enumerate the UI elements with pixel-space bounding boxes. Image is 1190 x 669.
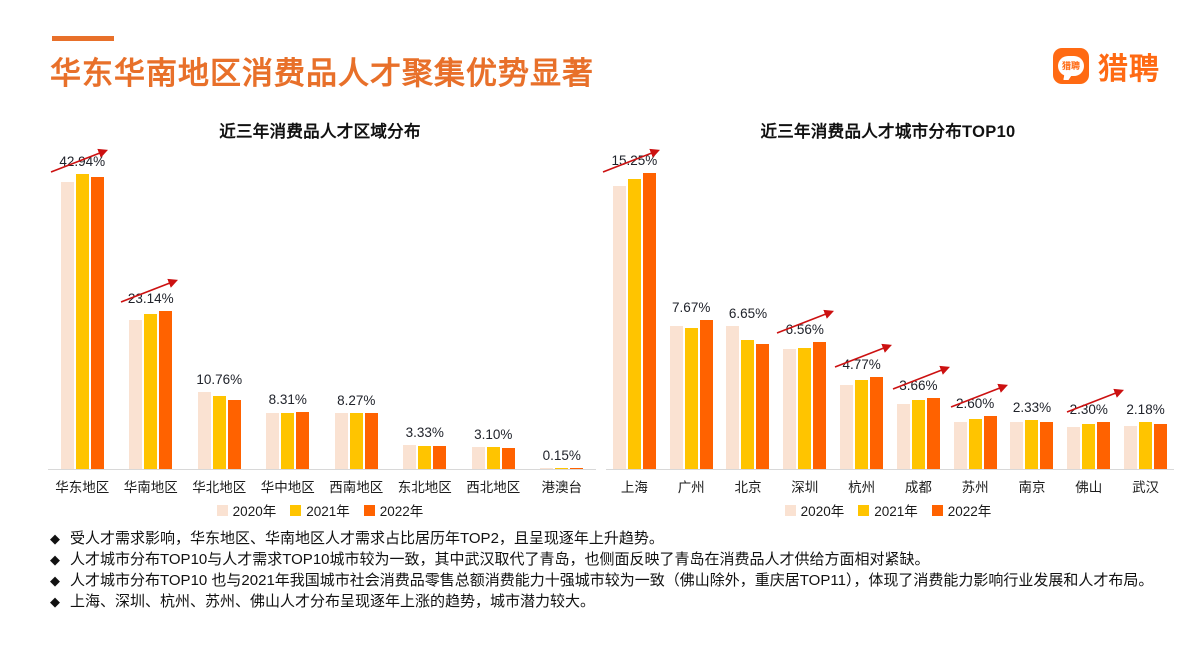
- insight-item: ◆人才城市分布TOP10与人才需求TOP10城市较为一致，其中武汉取代了青岛，也…: [50, 549, 1170, 570]
- bar-value-label: 3.66%: [899, 378, 937, 393]
- bar-2021: [350, 413, 363, 470]
- bar-2022: [927, 398, 940, 469]
- legend-swatch: [290, 505, 301, 516]
- x-axis-label: 武汉: [1117, 476, 1174, 496]
- bar-2021: [281, 413, 294, 470]
- chart-region-distribution: 近三年消费品人才区域分布 42.94%23.14%10.76%8.31%8.27…: [40, 118, 600, 520]
- bar-2022: [1154, 424, 1167, 469]
- x-axis-label: 广州: [663, 476, 720, 496]
- bar-triplet: [954, 150, 997, 469]
- x-axis-label: 成都: [890, 476, 947, 496]
- bar-2021: [76, 174, 89, 469]
- bar-triplet: [783, 150, 826, 469]
- bar-2020: [403, 445, 416, 470]
- chart-city-distribution: 近三年消费品人才城市分布TOP10 15.25%7.67%6.65%6.56%4…: [598, 118, 1178, 520]
- bar-group: 6.56%: [776, 150, 833, 469]
- legend-item[interactable]: 2022年: [364, 500, 424, 520]
- insight-text: 受人才需求影响，华东地区、华南地区人才需求占比居历年TOP2，且呈现逐年上升趋势…: [70, 528, 1170, 549]
- bar-2022: [700, 320, 713, 469]
- bar-group: 8.27%: [322, 150, 391, 469]
- bar-group: 3.33%: [391, 150, 460, 469]
- bar-2020: [129, 320, 142, 469]
- bar-value-label: 7.67%: [672, 300, 710, 315]
- bar-2020: [897, 404, 910, 469]
- bullet-diamond-icon: ◆: [50, 570, 60, 591]
- x-axis-label: 东北地区: [391, 476, 460, 496]
- bar-group: 23.14%: [117, 150, 186, 469]
- bar-2021: [418, 446, 431, 469]
- x-axis-label: 华中地区: [254, 476, 323, 496]
- bar-2022: [1040, 422, 1053, 470]
- x-axis-labels-right: 上海广州北京深圳杭州成都苏州南京佛山武汉: [606, 476, 1174, 496]
- legend-label: 2021年: [874, 500, 918, 520]
- legend-item[interactable]: 2020年: [785, 500, 845, 520]
- bar-group: 15.25%: [606, 150, 663, 469]
- bar-groups-left: 42.94%23.14%10.76%8.31%8.27%3.33%3.10%0.…: [48, 150, 596, 469]
- bar-value-label: 3.10%: [474, 427, 512, 442]
- bar-2020: [335, 413, 348, 469]
- x-axis-label: 南京: [1004, 476, 1061, 496]
- bar-triplet: [1067, 150, 1110, 469]
- bullet-diamond-icon: ◆: [50, 591, 60, 612]
- bar-2022: [1097, 422, 1110, 470]
- bar-value-label: 4.77%: [842, 357, 880, 372]
- bar-2020: [840, 385, 853, 469]
- bar-2021: [1139, 422, 1152, 469]
- x-axis-labels-left: 华东地区华南地区华北地区华中地区西南地区东北地区西北地区港澳台: [48, 476, 596, 496]
- bar-2022: [228, 400, 241, 469]
- title-accent-bar: [52, 36, 114, 41]
- x-axis-label: 华北地区: [185, 476, 254, 496]
- legend-label: 2022年: [380, 500, 424, 520]
- bar-triplet: [897, 150, 940, 469]
- bar-value-label: 10.76%: [196, 372, 242, 387]
- bar-group: 6.65%: [720, 150, 777, 469]
- bar-group: 2.60%: [947, 150, 1004, 469]
- plot-area-right: 15.25%7.67%6.65%6.56%4.77%3.66%2.60%2.33…: [598, 150, 1178, 470]
- bar-group: 42.94%: [48, 150, 117, 469]
- bar-value-label: 42.94%: [59, 154, 105, 169]
- bar-2022: [159, 311, 172, 469]
- insight-text: 人才城市分布TOP10 也与2021年我国城市社会消费品零售总额消费能力十强城市…: [70, 570, 1170, 591]
- bar-triplet: [198, 150, 241, 469]
- bar-2022: [813, 342, 826, 469]
- bar-group: 8.31%: [254, 150, 323, 469]
- bar-triplet: [1124, 150, 1167, 469]
- legend-label: 2020年: [801, 500, 845, 520]
- x-axis-label: 华南地区: [117, 476, 186, 496]
- legend-item[interactable]: 2020年: [217, 500, 277, 520]
- legend-right: 2020年2021年2022年: [598, 500, 1178, 520]
- x-axis-label: 西南地区: [322, 476, 391, 496]
- x-axis-label: 上海: [606, 476, 663, 496]
- bar-2020: [670, 326, 683, 470]
- bullet-diamond-icon: ◆: [50, 528, 60, 549]
- legend-swatch: [217, 505, 228, 516]
- bar-value-label: 2.60%: [956, 396, 994, 411]
- legend-label: 2020年: [233, 500, 277, 520]
- bar-triplet: [472, 150, 515, 469]
- x-axis-label: 港澳台: [528, 476, 597, 496]
- bar-2021: [685, 328, 698, 469]
- bar-2021: [213, 396, 226, 469]
- bar-2022: [296, 412, 309, 469]
- bar-2020: [783, 349, 796, 469]
- bar-2021: [487, 447, 500, 469]
- bar-value-label: 3.33%: [406, 425, 444, 440]
- bar-value-label: 2.33%: [1013, 400, 1051, 415]
- bar-2020: [1124, 426, 1137, 469]
- bar-2022: [756, 344, 769, 469]
- bar-2020: [266, 413, 279, 470]
- bar-2020: [726, 326, 739, 469]
- bar-2022: [365, 413, 378, 469]
- bar-value-label: 2.30%: [1070, 402, 1108, 417]
- legend-item[interactable]: 2022年: [932, 500, 992, 520]
- bar-2020: [472, 447, 485, 469]
- bar-2020: [198, 392, 211, 469]
- bar-group: 3.66%: [890, 150, 947, 469]
- legend-swatch: [932, 505, 943, 516]
- brand-logo: 猎聘 猎聘: [1053, 44, 1160, 88]
- bar-2020: [613, 186, 626, 469]
- bullet-diamond-icon: ◆: [50, 549, 60, 570]
- x-axis-label: 苏州: [947, 476, 1004, 496]
- logo-wordmark: 猎聘: [1098, 44, 1160, 88]
- bar-2021: [1082, 424, 1095, 469]
- bar-2022: [433, 446, 446, 469]
- bar-2022: [502, 448, 515, 469]
- bar-group: 3.10%: [459, 150, 528, 469]
- bar-2022: [91, 177, 104, 469]
- bar-value-label: 6.56%: [786, 322, 824, 337]
- bar-2022: [870, 377, 883, 470]
- x-axis-label: 西北地区: [459, 476, 528, 496]
- bar-value-label: 2.18%: [1126, 402, 1164, 417]
- legend-item[interactable]: 2021年: [858, 500, 918, 520]
- insight-text: 上海、深圳、杭州、苏州、佛山人才分布呈现逐年上涨的趋势，城市潜力较大。: [70, 591, 1170, 612]
- bar-value-label: 0.15%: [543, 448, 581, 463]
- bar-triplet: [403, 150, 446, 469]
- bar-value-label: 15.25%: [611, 153, 657, 168]
- bar-triplet: [129, 150, 172, 469]
- bar-2021: [969, 419, 982, 469]
- bar-value-label: 23.14%: [128, 291, 174, 306]
- bar-groups-right: 15.25%7.67%6.65%6.56%4.77%3.66%2.60%2.33…: [606, 150, 1174, 469]
- bar-group: 4.77%: [833, 150, 890, 469]
- legend-swatch: [785, 505, 796, 516]
- bar-2021: [912, 400, 925, 469]
- x-axis-line-right: [606, 469, 1174, 470]
- insight-item: ◆受人才需求影响，华东地区、华南地区人才需求占比居历年TOP2，且呈现逐年上升趋…: [50, 528, 1170, 549]
- plot-area-left: 42.94%23.14%10.76%8.31%8.27%3.33%3.10%0.…: [40, 150, 600, 470]
- legend-label: 2022年: [948, 500, 992, 520]
- legend-item[interactable]: 2021年: [290, 500, 350, 520]
- bar-group: 10.76%: [185, 150, 254, 469]
- bar-2021: [855, 380, 868, 469]
- logo-mark-text: 猎聘: [1058, 56, 1084, 76]
- bar-value-label: 8.27%: [337, 393, 375, 408]
- bar-2022: [643, 173, 656, 469]
- insight-item: ◆人才城市分布TOP10 也与2021年我国城市社会消费品零售总额消费能力十强城…: [50, 570, 1170, 591]
- insight-item: ◆上海、深圳、杭州、苏州、佛山人才分布呈现逐年上涨的趋势，城市潜力较大。: [50, 591, 1170, 612]
- bar-value-label: 8.31%: [269, 392, 307, 407]
- x-axis-label: 佛山: [1060, 476, 1117, 496]
- legend-swatch: [858, 505, 869, 516]
- bar-2020: [1010, 422, 1023, 469]
- legend-left: 2020年2021年2022年: [40, 500, 600, 520]
- bar-group: 0.15%: [528, 150, 597, 469]
- bar-triplet: [1010, 150, 1053, 469]
- bar-triplet: [266, 150, 309, 469]
- bar-2021: [1025, 420, 1038, 469]
- x-axis-line-left: [48, 469, 596, 470]
- chart-title-left: 近三年消费品人才区域分布: [40, 118, 600, 142]
- bar-triplet: [613, 150, 656, 469]
- x-axis-label: 深圳: [776, 476, 833, 496]
- x-axis-label: 华东地区: [48, 476, 117, 496]
- bar-triplet: [61, 150, 104, 469]
- insight-list: ◆受人才需求影响，华东地区、华南地区人才需求占比居历年TOP2，且呈现逐年上升趋…: [50, 528, 1170, 612]
- bar-group: 2.18%: [1117, 150, 1174, 469]
- insight-text: 人才城市分布TOP10与人才需求TOP10城市较为一致，其中武汉取代了青岛，也侧…: [70, 549, 1170, 570]
- chart-title-right: 近三年消费品人才城市分布TOP10: [598, 118, 1178, 142]
- bar-triplet: [540, 150, 583, 469]
- logo-speech-bubble-icon: 猎聘: [1053, 48, 1089, 84]
- bar-2021: [144, 314, 157, 469]
- bar-triplet: [840, 150, 883, 469]
- bar-group: 2.30%: [1060, 150, 1117, 469]
- x-axis-label: 北京: [720, 476, 777, 496]
- bar-2021: [798, 348, 811, 469]
- legend-label: 2021年: [306, 500, 350, 520]
- bar-value-label: 6.65%: [729, 306, 767, 321]
- x-axis-label: 杭州: [833, 476, 890, 496]
- page-title: 华东华南地区消费品人才聚集优势显著: [50, 48, 594, 93]
- bar-2021: [628, 179, 641, 469]
- bar-2020: [1067, 427, 1080, 469]
- legend-swatch: [364, 505, 375, 516]
- bar-group: 7.67%: [663, 150, 720, 469]
- bar-2021: [741, 340, 754, 469]
- bar-triplet: [335, 150, 378, 469]
- bar-2020: [954, 422, 967, 470]
- bar-2020: [61, 182, 74, 469]
- bar-2022: [984, 416, 997, 469]
- bar-group: 2.33%: [1004, 150, 1061, 469]
